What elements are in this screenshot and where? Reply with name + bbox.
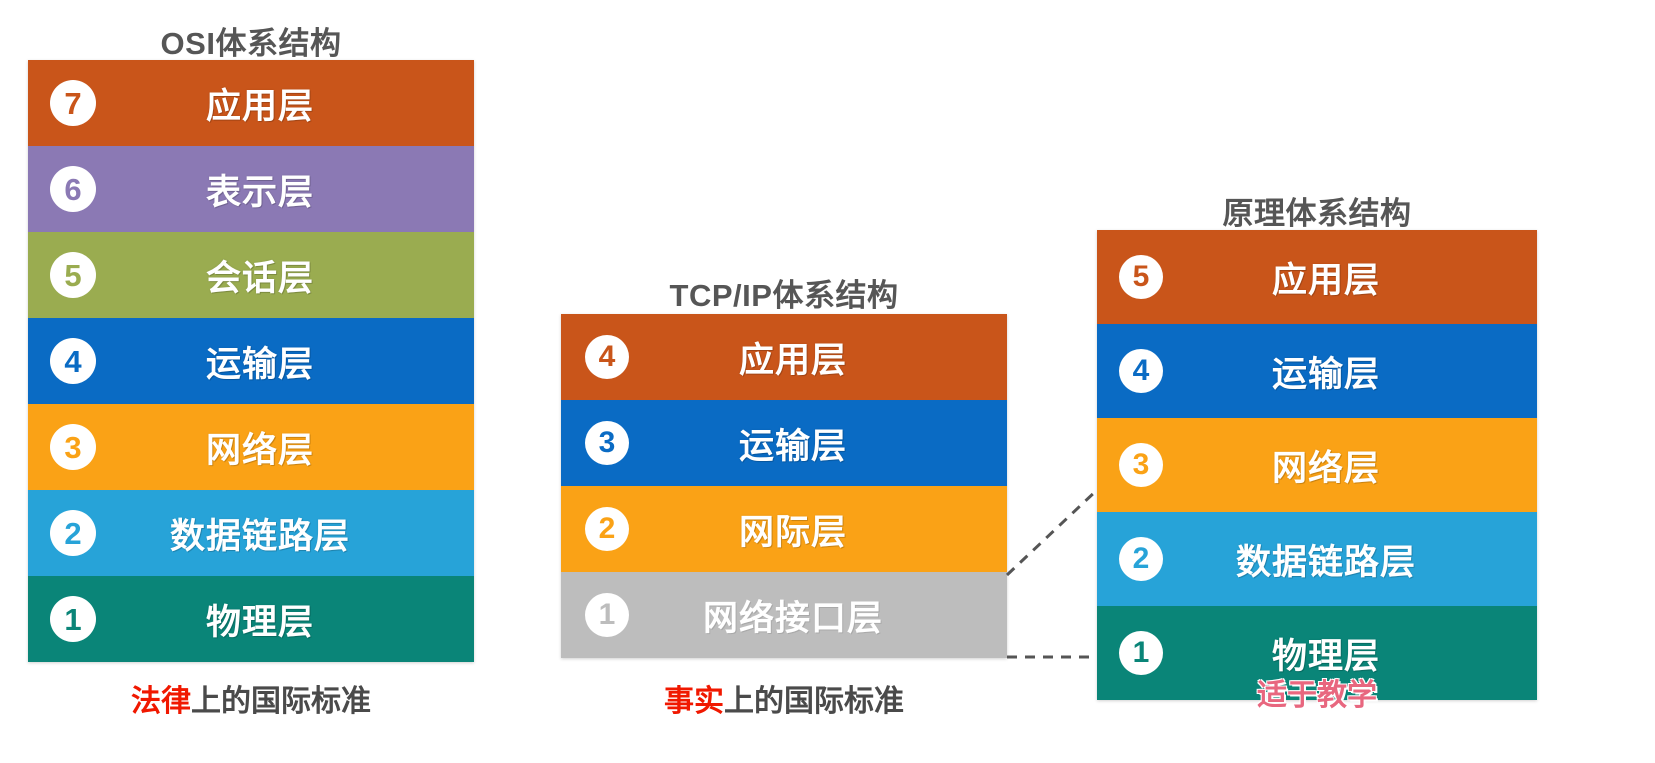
layer-band-osi-3[interactable]: 3网络层 <box>28 404 474 490</box>
layer-band-osi-5[interactable]: 5会话层 <box>28 232 474 318</box>
layer-number-badge: 4 <box>585 335 629 379</box>
layer-number-text: 5 <box>1133 262 1150 292</box>
layer-label: 数据链路层 <box>1097 534 1537 585</box>
layer-label: 运输层 <box>1097 346 1537 397</box>
layer-band-tcpip-4[interactable]: 4应用层 <box>561 314 1007 400</box>
layer-number-badge: 3 <box>585 421 629 465</box>
caption-rest: 上的国际标准 <box>191 685 371 718</box>
layer-number-text: 3 <box>64 432 81 463</box>
layer-number-badge: 3 <box>50 424 96 470</box>
stack-principle-caption: 适于教学 <box>1097 670 1537 714</box>
layer-band-tcpip-1[interactable]: 1网络接口层 <box>561 572 1007 658</box>
tcpip-netiface-to-principle-link <box>1007 490 1097 575</box>
layer-band-osi-1[interactable]: 1物理层 <box>28 576 474 662</box>
layer-band-principle-3[interactable]: 3网络层 <box>1097 418 1537 512</box>
layer-number-text: 1 <box>599 600 616 630</box>
layer-label: 网络层 <box>1097 440 1537 491</box>
caption-highlight: 事实 <box>664 685 724 718</box>
layer-band-tcpip-2[interactable]: 2网际层 <box>561 486 1007 572</box>
layer-number-badge: 4 <box>1119 349 1163 393</box>
layer-band-osi-4[interactable]: 4运输层 <box>28 318 474 404</box>
layer-number-badge: 7 <box>50 80 96 126</box>
stack-tcpip-caption: 事实上的国际标准 <box>561 676 1007 720</box>
layer-number-badge: 2 <box>1119 537 1163 581</box>
layer-number-badge: 1 <box>585 593 629 637</box>
layer-number-badge: 2 <box>50 510 96 556</box>
diagram-canvas: OSI体系结构 7应用层6表示层5会话层4运输层3网络层2数据链路层1物理层 法… <box>0 0 1655 763</box>
layer-number-text: 3 <box>599 428 616 458</box>
caption-highlight: 适于教学 <box>1257 679 1377 712</box>
layer-number-badge: 3 <box>1119 443 1163 487</box>
layer-number-text: 2 <box>1133 544 1150 574</box>
stack-osi-bands: 7应用层6表示层5会话层4运输层3网络层2数据链路层1物理层 <box>28 60 474 662</box>
layer-label: 应用层 <box>1097 252 1537 303</box>
stack-osi-title: OSI体系结构 <box>28 18 474 63</box>
layer-number-badge: 5 <box>50 252 96 298</box>
layer-number-badge: 1 <box>50 596 96 642</box>
layer-number-badge: 5 <box>1119 255 1163 299</box>
layer-number-badge: 2 <box>585 507 629 551</box>
layer-number-text: 1 <box>64 604 81 635</box>
layer-number-badge: 1 <box>1119 631 1163 675</box>
layer-number-text: 4 <box>1133 356 1150 386</box>
layer-number-text: 2 <box>599 514 616 544</box>
caption-highlight: 法律 <box>131 685 191 718</box>
layer-number-badge: 6 <box>50 166 96 212</box>
stack-osi-caption: 法律上的国际标准 <box>28 676 474 720</box>
layer-number-text: 2 <box>64 518 81 549</box>
layer-number-text: 5 <box>64 260 81 291</box>
layer-number-text: 4 <box>599 342 616 372</box>
layer-number-text: 1 <box>1133 638 1150 668</box>
stack-principle-bands: 5应用层4运输层3网络层2数据链路层1物理层 <box>1097 230 1537 700</box>
stack-tcpip-bands: 4应用层3运输层2网际层1网络接口层 <box>561 314 1007 658</box>
stack-principle-title: 原理体系结构 <box>1097 188 1537 233</box>
layer-band-osi-6[interactable]: 6表示层 <box>28 146 474 232</box>
layer-number-text: 6 <box>64 174 81 205</box>
layer-band-principle-4[interactable]: 4运输层 <box>1097 324 1537 418</box>
layer-band-tcpip-3[interactable]: 3运输层 <box>561 400 1007 486</box>
layer-band-principle-5[interactable]: 5应用层 <box>1097 230 1537 324</box>
caption-rest: 上的国际标准 <box>724 685 904 718</box>
layer-number-text: 4 <box>64 346 81 377</box>
stack-tcpip-title: TCP/IP体系结构 <box>561 270 1007 315</box>
layer-band-osi-7[interactable]: 7应用层 <box>28 60 474 146</box>
layer-number-text: 3 <box>1133 450 1150 480</box>
layer-number-badge: 4 <box>50 338 96 384</box>
layer-number-text: 7 <box>64 88 81 119</box>
layer-band-osi-2[interactable]: 2数据链路层 <box>28 490 474 576</box>
layer-band-principle-2[interactable]: 2数据链路层 <box>1097 512 1537 606</box>
